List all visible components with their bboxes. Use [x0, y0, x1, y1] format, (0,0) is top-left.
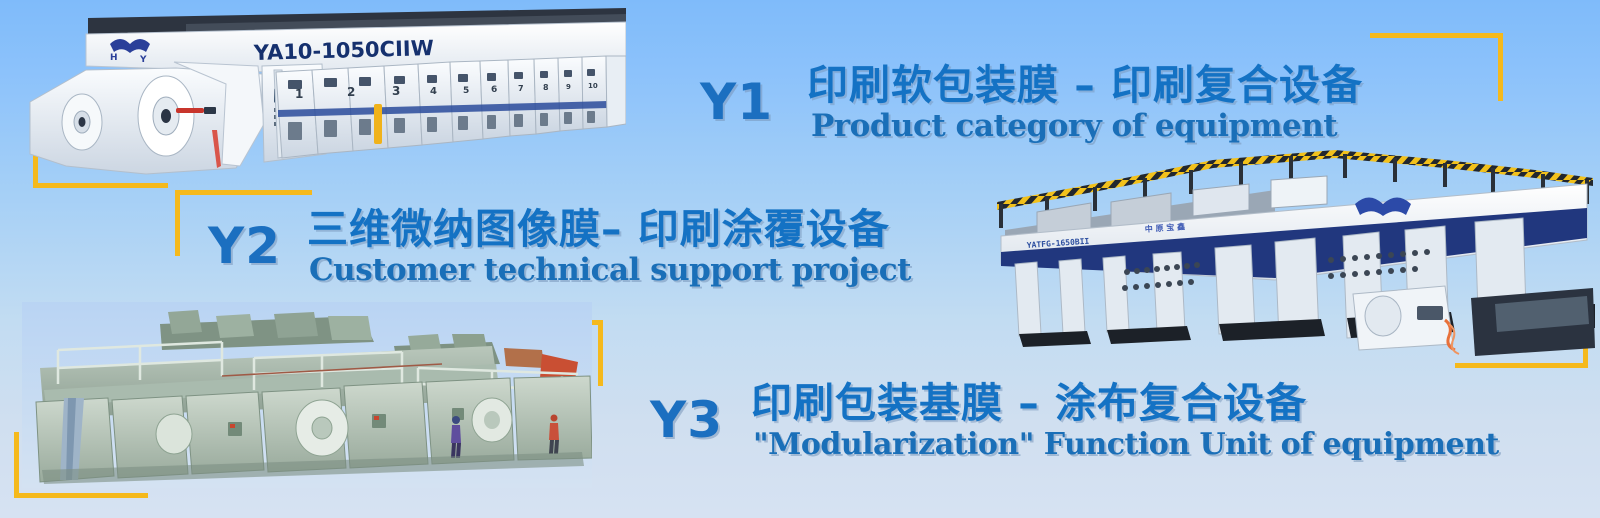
svg-text:10: 10: [588, 82, 598, 90]
svg-text:9: 9: [566, 83, 571, 91]
entry-y1-code: Y1: [700, 73, 773, 131]
bracket-y2-left-vertical: [175, 190, 180, 256]
svg-text:7: 7: [518, 84, 524, 93]
entry-y3-title-cn: 印刷包装基膜 – 涂布复合设备: [751, 378, 1499, 428]
entry-y2-title-en: Customer technical support project: [309, 254, 911, 287]
bracket-y1-right-vertical: [1498, 33, 1503, 101]
entry-y3-text: 印刷包装基膜 – 涂布复合设备 "Modularization" Functio…: [751, 378, 1499, 461]
entry-y3: Y3 印刷包装基膜 – 涂布复合设备 "Modularization" Func…: [650, 378, 1499, 461]
entry-y3-code: Y3: [650, 391, 723, 449]
svg-text:4: 4: [430, 86, 437, 97]
svg-text:3: 3: [392, 84, 400, 98]
bracket-y3-left-vertical: [14, 432, 19, 498]
bracket-y3-bottom-horizontal: [14, 493, 148, 498]
svg-text:8: 8: [543, 83, 549, 92]
svg-text:H: H: [110, 53, 118, 63]
photo-rotogravure-printing-press: H Y YA10-1050CIIW: [26, 4, 626, 186]
entry-y1-title-cn: 印刷软包装膜 – 印刷复合设备: [807, 60, 1363, 110]
photo-wide-web-coating-line: [22, 302, 592, 488]
entry-y2: Y2 三维微纳图像膜– 印刷涂覆设备 Customer technical su…: [208, 204, 911, 287]
entry-y2-text: 三维微纳图像膜– 印刷涂覆设备 Customer technical suppo…: [307, 204, 911, 287]
svg-text:1: 1: [295, 87, 303, 101]
bracket-y1-right-horizontal: [1370, 33, 1503, 38]
entry-y2-code: Y2: [208, 217, 281, 275]
entry-y2-title-cn: 三维微纳图像膜– 印刷涂覆设备: [307, 204, 911, 254]
entry-y1-text: 印刷软包装膜 – 印刷复合设备 Product category of equi…: [807, 60, 1363, 143]
svg-text:Y: Y: [139, 55, 147, 65]
svg-text:5: 5: [463, 86, 469, 96]
bracket-y2-top-horizontal: [175, 190, 312, 195]
product-category-banner: H Y YA10-1050CIIW: [0, 0, 1600, 518]
svg-text:6: 6: [491, 85, 497, 95]
entry-y1-title-en: Product category of equipment: [811, 110, 1363, 143]
entry-y1: Y1 印刷软包装膜 – 印刷复合设备 Product category of e…: [700, 60, 1363, 143]
entry-y3-title-en: "Modularization" Function Unit of equipm…: [753, 428, 1499, 461]
svg-text:2: 2: [347, 85, 355, 99]
photo-dry-lamination-machine: 中 原 宝 鑫 YATFG-1650BII: [975, 148, 1595, 360]
bracket-y2-right-horizontal: [1455, 363, 1588, 368]
bracket-y3-right-vertical: [598, 320, 603, 386]
press-yellow-marker: [374, 104, 382, 144]
press-model-label: YA10-1050CIIW: [252, 36, 434, 65]
